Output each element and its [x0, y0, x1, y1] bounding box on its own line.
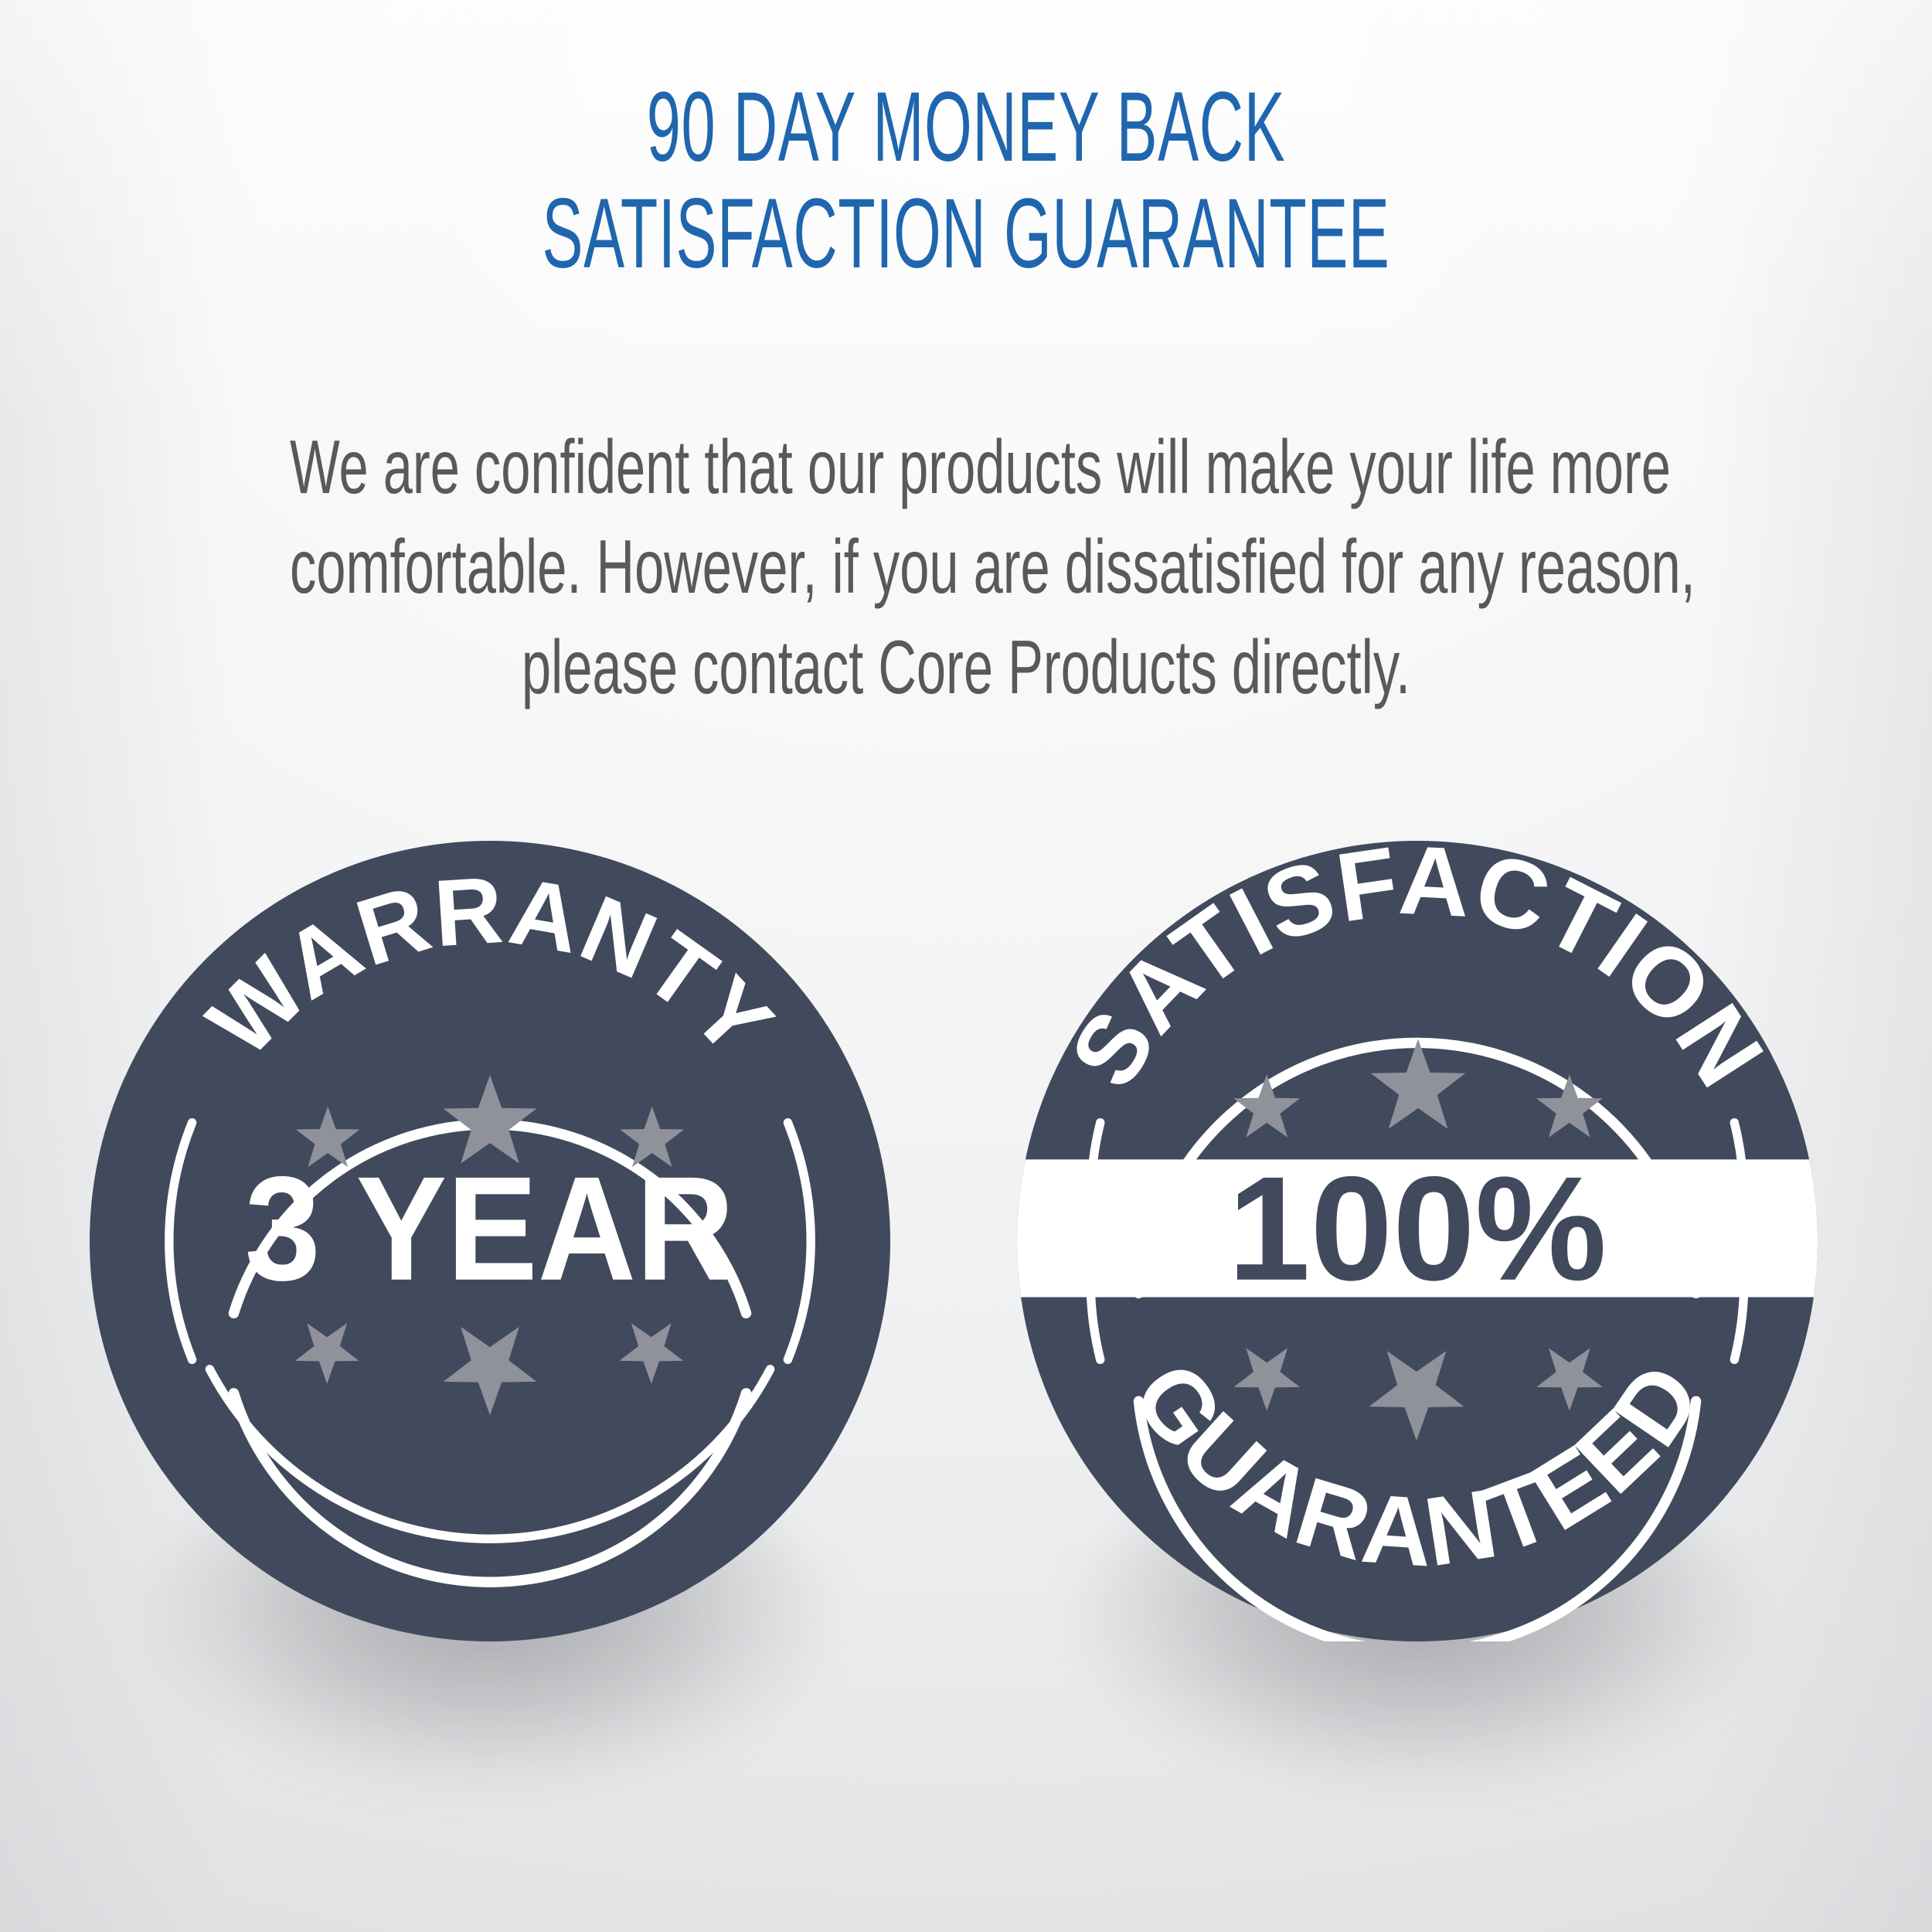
guarantee-graphic: 90 DAY MONEY BACK SATISFACTION GUARANTEE…: [0, 0, 1932, 1932]
satisfaction-badge: SATISFACTION GUARANTEED: [1017, 841, 1818, 1641]
warranty-badge: WARRANTY 3 YEAR: [90, 841, 890, 1641]
page-title-line-1: 90 DAY MONEY BACK: [367, 74, 1565, 181]
page-title: 90 DAY MONEY BACK SATISFACTION GUARANTEE: [367, 74, 1565, 287]
guarantee-description-line-1: We are confident that our products will …: [290, 417, 1642, 517]
guarantee-description-line-2: comfortable. However, if you are dissati…: [290, 517, 1642, 617]
guarantee-description: We are confident that our products will …: [290, 417, 1642, 717]
warranty-badge-graphic: WARRANTY 3 YEAR: [90, 841, 890, 1641]
satisfaction-badge-graphic: SATISFACTION GUARANTEED: [1017, 841, 1818, 1641]
page-title-line-2: SATISFACTION GUARANTEE: [367, 181, 1565, 287]
guarantee-description-line-3: please contact Core Products directly.: [290, 617, 1642, 717]
satisfaction-band-label: 100%: [1228, 1145, 1607, 1311]
warranty-center-label: 3 YEAR: [245, 1146, 735, 1311]
